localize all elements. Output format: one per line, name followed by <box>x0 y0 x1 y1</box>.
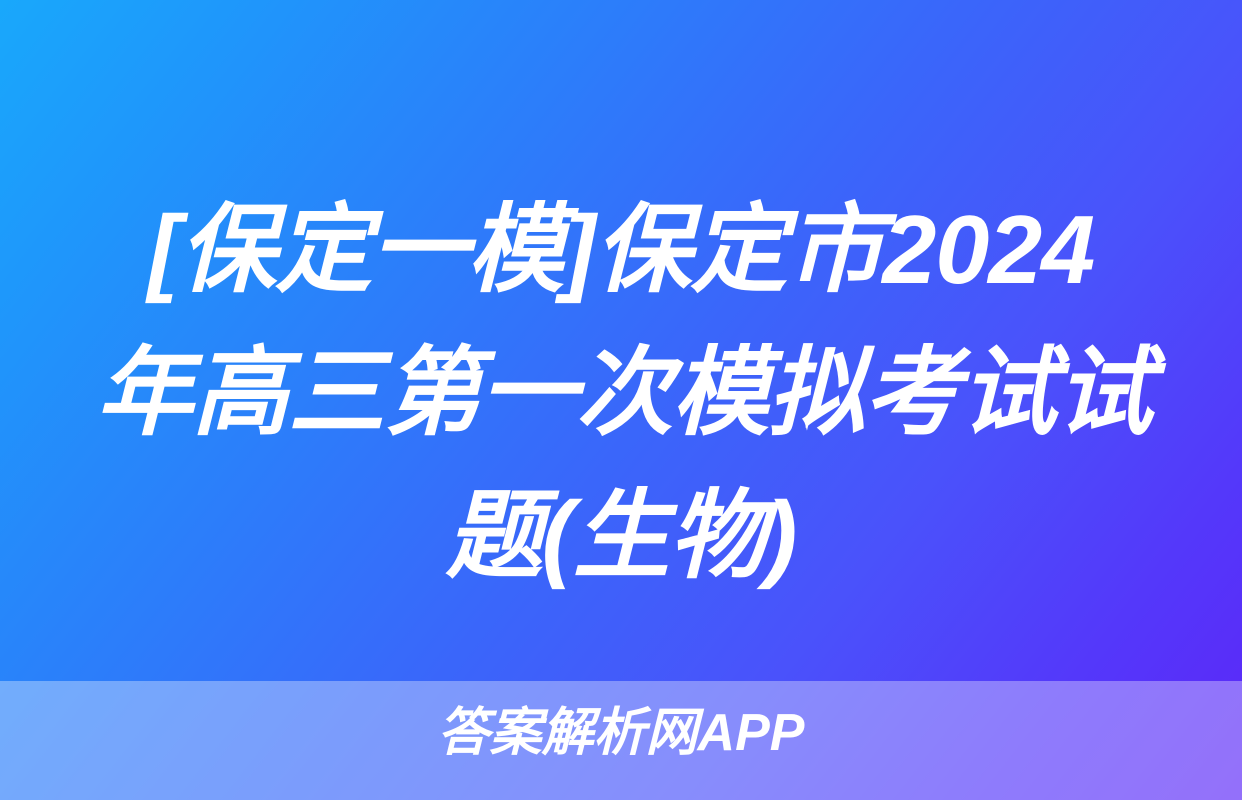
page-title-line-1: [保定一模]保定市2024 <box>96 178 1146 321</box>
page-title-line-2: 年高三第一次模拟考试试 <box>96 321 1146 464</box>
page-title: [保定一模]保定市2024 年高三第一次模拟考试试 题(生物) <box>96 178 1146 607</box>
watermark-brand-label: 答案解析网APP <box>0 701 1242 765</box>
exam-paper-cover-poster: [保定一模]保定市2024 年高三第一次模拟考试试 题(生物) 答案解析网APP <box>0 0 1242 800</box>
page-title-line-3: 题(生物) <box>96 464 1146 607</box>
